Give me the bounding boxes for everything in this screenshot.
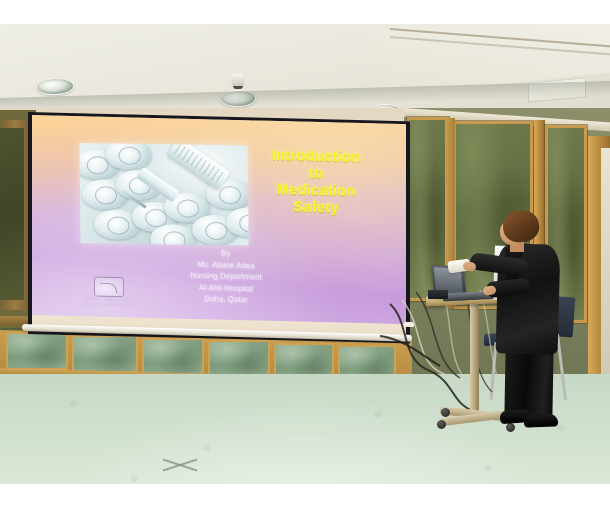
slide-title: Introduction to Medication Safety	[236, 146, 396, 218]
presenter-shoe-right	[524, 413, 558, 427]
wainscot-panel-4	[210, 342, 268, 376]
letterbox-bottom	[0, 484, 610, 512]
wainscot-panel-3	[144, 340, 202, 374]
wainscot-panel-1	[8, 334, 66, 368]
cart-caster-3	[441, 408, 450, 417]
al-ahli-hospital-logo-icon: المستشفى الأهلي AL-AHLI HOSPITAL	[76, 276, 140, 308]
cart-caster-4	[506, 423, 515, 432]
screen-surface: Introduction to Medication Safety By Ms.…	[32, 115, 406, 339]
cart-caster-1	[437, 420, 446, 429]
cart-post	[470, 302, 479, 414]
wainscot-panel-2	[74, 337, 136, 371]
presentation-photo: Introduction to Medication Safety By Ms.…	[0, 24, 610, 484]
presentation-remote-device[interactable]	[428, 290, 448, 299]
slide-byline: By Ms. Alaine Adea Nursing Department Al…	[136, 246, 316, 308]
pull-down-projection-screen: Introduction to Medication Safety By Ms.…	[28, 112, 410, 334]
letterbox-top	[0, 0, 610, 24]
syringe-and-vials-photo	[79, 143, 248, 245]
left-wall-panel	[0, 128, 24, 300]
screenshot-root: Introduction to Medication Safety By Ms.…	[0, 0, 610, 512]
sprinkler-head-icon	[232, 74, 244, 86]
presenter-legs	[504, 344, 553, 421]
syringe-body	[167, 143, 231, 190]
door-panel[interactable]	[601, 148, 610, 378]
